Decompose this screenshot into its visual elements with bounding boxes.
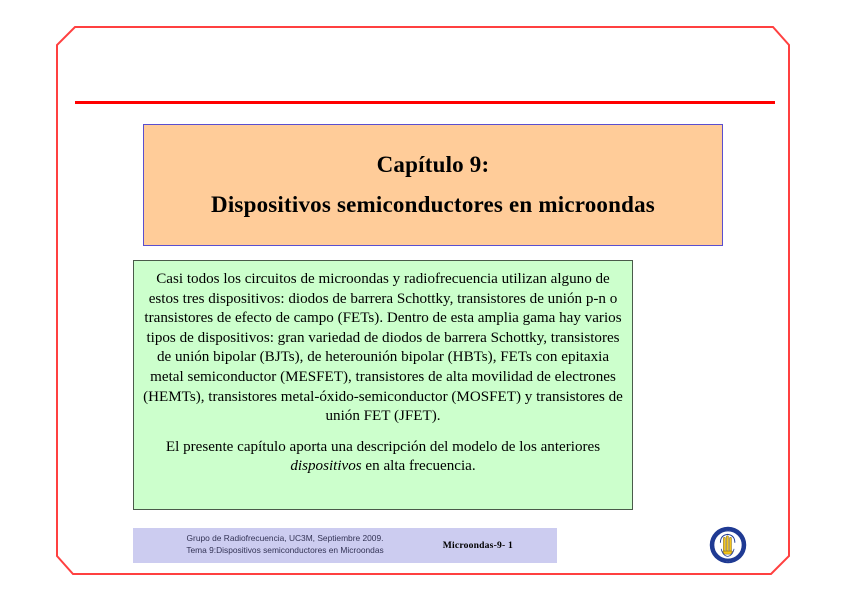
body-paragraph-2: El presente capítulo aporta una descripc… — [142, 438, 624, 477]
footer-credit-line-2: Tema 9:Dispositivos semiconductores en M… — [145, 545, 425, 557]
footer-bar: Grupo de Radiofrecuencia, UC3M, Septiemb… — [133, 528, 557, 563]
uc3m-seal-icon: · · · · · · — [709, 526, 747, 564]
title-box: Capítulo 9: Dispositivos semiconductores… — [143, 124, 723, 246]
footer-credit-line-1: Grupo de Radiofrecuencia, UC3M, Septiemb… — [145, 533, 425, 545]
body-paragraph-2-tail: en alta frecuencia. — [362, 458, 476, 474]
svg-text:· · ·: · · · — [726, 560, 730, 563]
body-paragraph-1: Casi todos los circuitos de microondas y… — [142, 270, 624, 427]
body-paragraph-2-emphasis: dispositivos — [290, 458, 361, 474]
header-divider-rule — [75, 101, 775, 104]
body-paragraph-2-lead: El presente capítulo aporta una descripc… — [166, 439, 600, 455]
chapter-name-title: Dispositivos semiconductores en microond… — [211, 192, 655, 218]
body-content-box: Casi todos los circuitos de microondas y… — [133, 260, 633, 510]
slide-canvas: Capítulo 9: Dispositivos semiconductores… — [0, 0, 848, 599]
footer-credit-block: Grupo de Radiofrecuencia, UC3M, Septiemb… — [145, 533, 425, 556]
svg-text:· · ·: · · · — [726, 529, 730, 532]
footer-page-number: Microondas-9- 1 — [443, 540, 513, 551]
chapter-number-title: Capítulo 9: — [377, 152, 490, 178]
